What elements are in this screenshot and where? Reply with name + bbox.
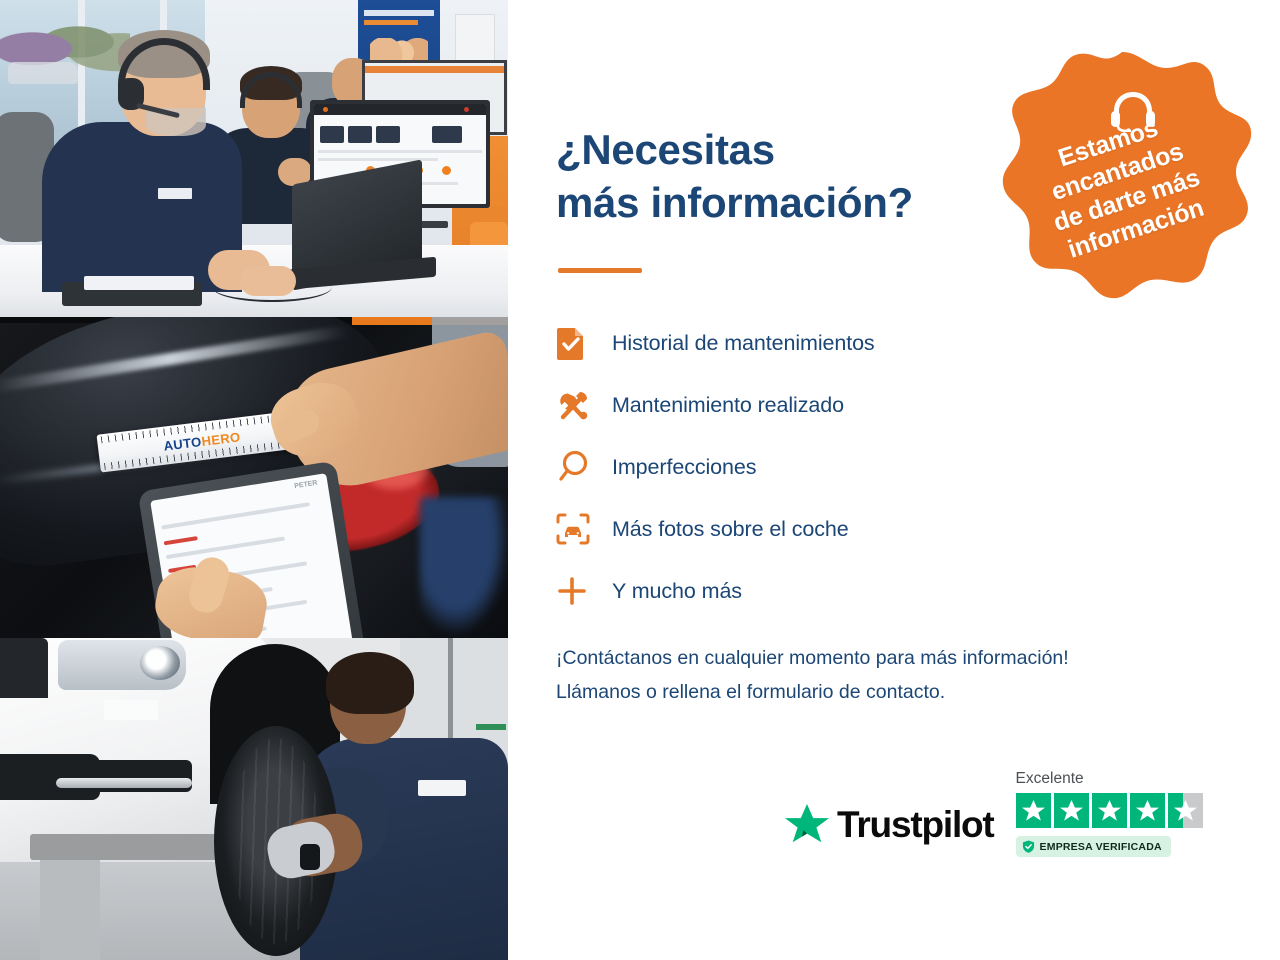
car-inspection-ruler-photo: AUTOHERO PETER <box>0 317 508 638</box>
car-plate-area <box>104 700 158 720</box>
background-monitor-bar <box>365 66 504 73</box>
trustpilot-block[interactable]: Trustpilot Excelente <box>784 770 1203 857</box>
feature-label: Mantenimiento realizado <box>612 393 844 418</box>
mechanic-hair <box>326 652 414 714</box>
screen-row <box>318 150 482 153</box>
contact-line-two: Llámanos o rellena el formulario de cont… <box>556 676 1236 710</box>
page-title-line-two: más información? <box>556 177 1006 230</box>
screen-car-thumb <box>376 126 400 143</box>
screen-dot <box>464 107 469 112</box>
trustpilot-rating: Excelente <box>1016 770 1203 857</box>
car-upper-grille <box>0 638 48 698</box>
verified-company-badge: EMPRESA VERIFICADA <box>1016 836 1171 857</box>
magnifier-icon <box>556 450 612 484</box>
feature-label: Más fotos sobre el coche <box>612 517 849 542</box>
mechanic-shirt-logo <box>418 780 466 796</box>
feature-list: Historial de mantenimientos <box>556 312 1076 622</box>
contact-paragraph: ¡Contáctanos en cualquier momento para m… <box>556 642 1236 709</box>
content-panel: ¿Necesitas más información? Estamos enca… <box>508 0 1280 960</box>
desk-notebook <box>84 276 194 290</box>
screen-car-thumb <box>348 126 372 143</box>
photo-column: AUTOHERO PETER <box>0 0 508 960</box>
contact-line-one: ¡Contáctanos en cualquier momento para m… <box>556 642 1236 676</box>
car-headlight-lens <box>140 646 180 680</box>
car-scan-frame-icon <box>556 513 612 545</box>
agent-one-hand-two <box>240 266 296 296</box>
trustpilot-rating-label: Excelente <box>1016 770 1084 788</box>
promo-page: AUTOHERO PETER <box>0 0 1280 960</box>
tablet-row-alert <box>164 536 198 545</box>
support-badge: Estamos encantados de darte más informac… <box>992 48 1252 320</box>
mechanic-watch <box>300 844 320 870</box>
vehicle-lift-post <box>40 860 100 960</box>
screen-car-thumb <box>432 126 462 143</box>
page-title: ¿Necesitas más información? <box>556 124 1006 230</box>
agent-one-shirt-logo <box>158 188 192 199</box>
poster-text-line <box>364 10 434 16</box>
poster-accent-line <box>364 20 418 25</box>
screen-badge <box>442 166 451 175</box>
trustpilot-wordmark: Trustpilot <box>837 804 994 846</box>
star-filled <box>1016 793 1051 828</box>
verified-company-label: EMPRESA VERIFICADA <box>1040 841 1162 853</box>
screen-dot <box>323 107 328 112</box>
feature-item-maintenance-done[interactable]: Mantenimiento realizado <box>556 374 1076 436</box>
plus-icon <box>556 575 612 607</box>
tablet-row <box>161 502 310 529</box>
star-filled <box>1054 793 1089 828</box>
page-title-line-one: ¿Necesitas <box>556 124 1006 177</box>
feature-label: Y mucho más <box>612 579 742 604</box>
mechanic-wheel-photo <box>0 638 508 960</box>
car-chrome-trim <box>56 778 192 788</box>
trustpilot-logo[interactable]: Trustpilot <box>784 803 994 857</box>
star-partial <box>1168 793 1203 828</box>
trustpilot-star-icon <box>784 803 830 847</box>
feature-item-imperfections[interactable]: Imperfecciones <box>556 436 1076 498</box>
green-hose <box>476 724 506 730</box>
blue-reflection <box>420 497 508 637</box>
star-filled <box>1092 793 1127 828</box>
screen-car-thumb <box>320 126 344 143</box>
star-filled <box>1130 793 1165 828</box>
title-underline-rule <box>558 268 642 273</box>
feature-item-much-more[interactable]: Y mucho más <box>556 560 1076 622</box>
tools-wrench-screwdriver-icon <box>556 388 612 422</box>
call-center-agents-photo <box>0 0 508 317</box>
feature-item-more-photos[interactable]: Más fotos sobre el coche <box>556 498 1076 560</box>
feature-item-maintenance-history[interactable]: Historial de mantenimientos <box>556 312 1076 374</box>
feature-label: Imperfecciones <box>612 455 756 480</box>
trustpilot-stars <box>1016 793 1203 828</box>
shield-check-icon <box>1022 840 1035 853</box>
outdoor-car <box>8 62 78 84</box>
feature-label: Historial de mantenimientos <box>612 331 875 356</box>
checklist-document-icon <box>556 326 612 360</box>
tablet-brand: PETER <box>294 480 318 491</box>
screen-topbar <box>314 104 486 115</box>
